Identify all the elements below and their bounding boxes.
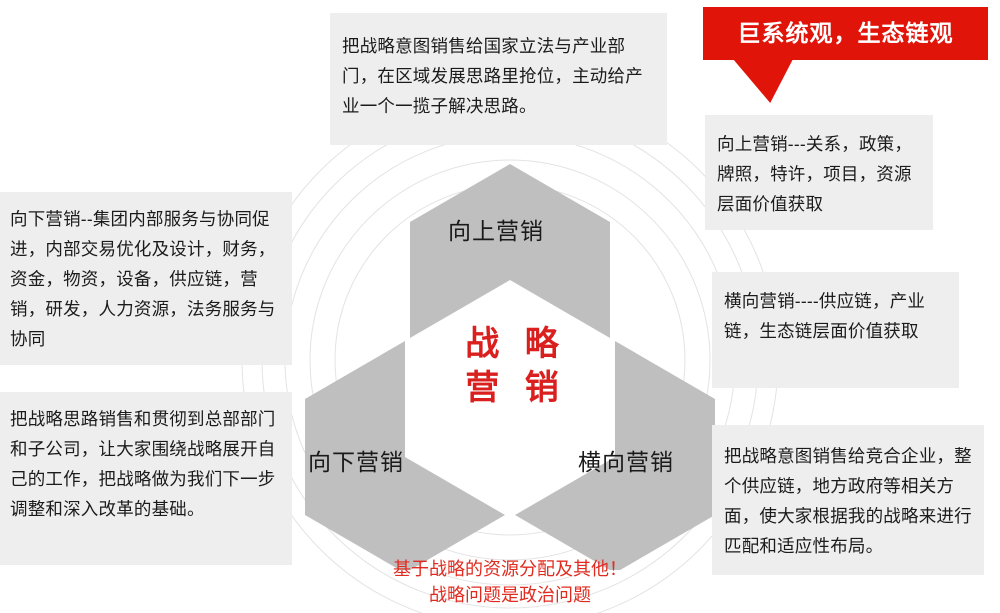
callout-banner-text: 巨系统观，生态链观 (703, 7, 988, 60)
bottom-caption: 基于战略的资源分配及其他！ 战略问题是政治问题 (330, 556, 690, 608)
info-box-left-top-text: 向下营销--集团内部服务与协同促进，内部交易优化及设计，财务，资金，物资，设备，… (10, 204, 282, 354)
bottom-caption-line2: 战略问题是政治问题 (330, 582, 690, 608)
hexagon-label-lateral: 横向营销 (578, 443, 674, 477)
marketing-hexagon: 向上营销 向下营销 横向营销 战 略 营 销 (300, 150, 720, 570)
hexagon-label-up: 向上营销 (448, 212, 544, 246)
info-box-top-text: 把战略意图销售给国家立法与产业部门，在区域发展思路里抢位，主动给产业一个一揽子解… (342, 31, 655, 121)
callout-banner-tail (733, 59, 793, 103)
info-box-right-2-text: 横向营销----供应链，产业链，生态链层面价值获取 (724, 286, 949, 346)
center-title: 战 略 营 销 (448, 322, 576, 410)
info-box-top[interactable]: 把战略意图销售给国家立法与产业部门，在区域发展思路里抢位，主动给产业一个一揽子解… (330, 13, 667, 145)
info-box-right-2[interactable]: 横向营销----供应链，产业链，生态链层面价值获取 (712, 272, 959, 388)
info-box-right-1[interactable]: 向上营销---关系，政策，牌照，特许，项目，资源层面价值获取 (705, 115, 933, 230)
info-box-left-bottom[interactable]: 把战略思路销售和贯彻到总部部门和子公司，让大家围绕战略展开自己的工作，把战略做为… (0, 392, 292, 565)
center-title-line2: 营 销 (448, 366, 576, 410)
info-box-right-3-text: 把战略意图销售给竞合企业，整个供应链，地方政府等相关方面，使大家根据我的战略来进… (724, 441, 974, 561)
info-box-right-1-text: 向上营销---关系，政策，牌照，特许，项目，资源层面价值获取 (717, 129, 923, 219)
bottom-caption-line1: 基于战略的资源分配及其他！ (330, 556, 690, 582)
callout-banner: 巨系统观，生态链观 (703, 7, 988, 60)
info-box-right-3[interactable]: 把战略意图销售给竞合企业，整个供应链，地方政府等相关方面，使大家根据我的战略来进… (712, 425, 984, 575)
diagram-canvas: 向上营销 向下营销 横向营销 战 略 营 销 巨系统观，生态链观 把战略意图销售… (0, 0, 1000, 613)
info-box-left-top[interactable]: 向下营销--集团内部服务与协同促进，内部交易优化及设计，财务，资金，物资，设备，… (0, 192, 292, 365)
center-title-line1: 战 略 (448, 322, 576, 366)
info-box-left-bottom-text: 把战略思路销售和贯彻到总部部门和子公司，让大家围绕战略展开自己的工作，把战略做为… (10, 404, 282, 524)
hexagon-label-down: 向下营销 (308, 443, 404, 477)
